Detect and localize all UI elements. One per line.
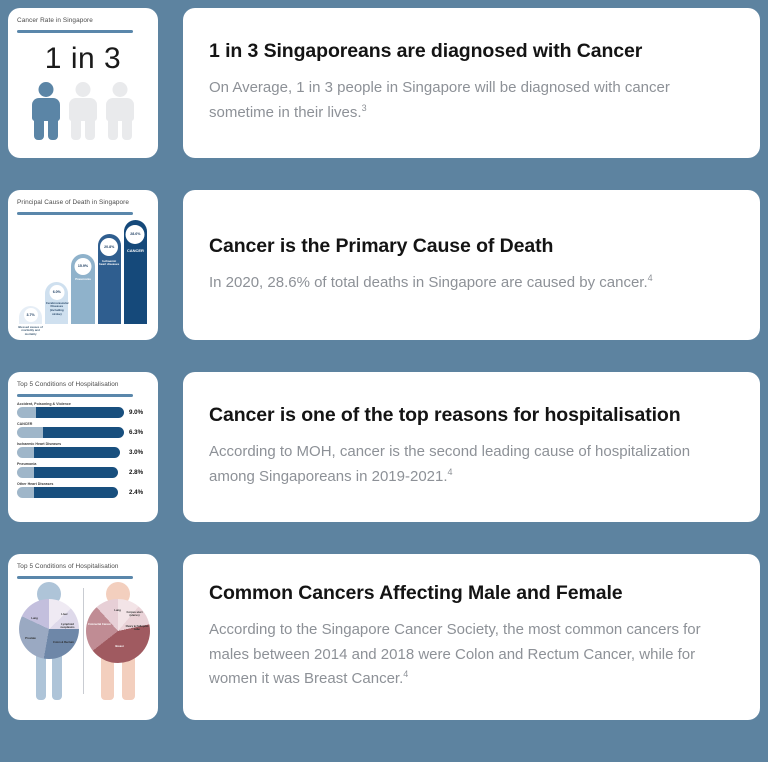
pie-chart-group: Liver Lymphoid neoplasms Colon & Rectum … [17,582,149,700]
card-body-text: In 2020, 28.6% of total deaths in Singap… [209,274,648,291]
info-row-hospitalisation: Top 5 Conditions of Hospitalisation Acci… [8,372,760,522]
column-value: 28.6% [126,225,145,244]
accent-rule [17,212,133,215]
graphic-title: Principal Cause of Death in Singapore [17,199,149,208]
female-pie-chart: Corpus uteri (uterus) Ovary & Fallopian … [86,599,150,663]
bar-value: 6.3% [129,429,149,436]
horizontal-bar-chart: Accident, Poisoning & Violence 9.0% CANC… [17,402,149,499]
bar-value: 2.8% [129,469,149,476]
accent-rule [17,30,133,33]
stat-value: 1 in 3 [17,42,149,76]
pie-slice-label: Ovary & Fallopian tube [126,625,149,631]
bar-row: CANCER 6.3% [17,422,149,439]
column-label: CANCER [125,248,147,253]
graphic-title: Top 5 Conditions of Hospitalisation [17,563,149,572]
graphic-card-hospitalisation: Top 5 Conditions of Hospitalisation Acci… [8,372,158,522]
column-label: Pneumonia [72,278,94,282]
info-row-cancer-rate: Cancer Rate in Singapore 1 in 3 1 in 3 S… [8,8,760,158]
text-card-hospitalisation: Cancer is one of the top reasons for hos… [183,372,760,522]
column-value: 15.9% [75,258,92,275]
card-body: According to MOH, cancer is the second l… [209,440,719,490]
bar-label: Accident, Poisoning & Violence [17,402,149,406]
card-heading: 1 in 3 Singaporeans are diagnosed with C… [209,40,734,63]
male-figure: Liver Lymphoid neoplasms Colon & Rectum … [17,582,80,700]
graphic-card-common-cancers: Top 5 Conditions of Hospitalisation Live… [8,554,158,720]
card-body: On Average, 1 in 3 people in Singapore w… [209,76,719,126]
footnote-marker: 4 [403,669,408,679]
pie-slice-label: Colorectal Cancer [88,623,112,626]
info-row-cause-of-death: Principal Cause of Death in Singapore 3.… [8,190,760,340]
column-value: 3.7% [24,308,38,322]
person-icon [30,82,62,140]
infographic-page: Cancer Rate in Singapore 1 in 3 1 in 3 S… [0,0,768,762]
pie-slice-label: Breast [110,645,130,648]
person-icon [104,82,136,140]
footnote-marker: 4 [648,273,653,283]
card-body-text: According to MOH, cancer is the second l… [209,443,690,485]
pie-slice-label: Colon & Rectum [51,641,77,644]
card-body-text: According to the Singapore Cancer Societ… [209,621,701,688]
graphic-card-cancer-rate: Cancer Rate in Singapore 1 in 3 [8,8,158,158]
card-body: According to the Singapore Cancer Societ… [209,618,719,692]
card-heading: Common Cancers Affecting Male and Female [209,582,734,605]
person-icon [67,82,99,140]
column-bar: 6.0% Cerebrovascular Diseases (including… [45,282,68,324]
graphic-title: Top 5 Conditions of Hospitalisation [17,381,149,390]
graphic-title: Cancer Rate in Singapore [17,17,149,26]
column-bar: 15.9% Pneumonia [71,254,94,324]
bar-value: 2.4% [129,489,149,496]
column-value: 20.8% [100,238,118,256]
column-bar: 28.6% CANCER [124,220,147,324]
info-row-common-cancers: Top 5 Conditions of Hospitalisation Live… [8,554,760,720]
accent-rule [17,394,133,397]
column-bar: 3.7% Blessed causes of morbidity and mor… [19,306,42,324]
bar-label: CANCER [17,422,149,426]
graphic-card-cause-of-death: Principal Cause of Death in Singapore 3.… [8,190,158,340]
bar-label: Ischaemic Heart Diseases [17,442,149,446]
column-value: 6.0% [49,285,64,300]
bar-label: Pneumonia [17,462,149,466]
bar-label: Other Heart Diseases [17,482,149,486]
column-label: Ischaemic heart diseases [98,260,120,268]
pie-slice-label: Prostate [21,637,41,640]
pie-slice-label: Lung [25,617,45,620]
people-pictogram [17,82,149,140]
legs-icon [36,652,62,700]
text-card-cancer-rate: 1 in 3 Singaporeans are diagnosed with C… [183,8,760,158]
female-figure: Corpus uteri (uterus) Ovary & Fallopian … [86,582,149,700]
bar-row: Ischaemic Heart Diseases 3.0% [17,442,149,459]
text-card-cause-of-death: Cancer is the Primary Cause of Death In … [183,190,760,340]
text-card-common-cancers: Common Cancers Affecting Male and Female… [183,554,760,720]
vertical-divider [83,588,84,694]
footnote-marker: 4 [448,467,453,477]
bar-row: Other Heart Diseases 2.4% [17,482,149,499]
male-pie-chart: Liver Lymphoid neoplasms Colon & Rectum … [19,599,79,659]
footnote-marker: 3 [362,103,367,113]
card-body: In 2020, 28.6% of total deaths in Singap… [209,271,719,296]
bar-value: 9.0% [129,409,149,416]
pie-slice-label: Lung [108,609,128,612]
accent-rule [17,576,133,579]
column-chart: 3.7% Blessed causes of morbidity and mor… [17,220,149,324]
column-bar: 20.8% Ischaemic heart diseases [98,234,121,324]
card-heading: Cancer is the Primary Cause of Death [209,235,734,258]
pie-slice-label: Lymphoid neoplasms [57,623,79,629]
bar-value: 3.0% [129,449,149,456]
pie-slice-label: Liver [55,613,75,616]
column-label: Cerebrovascular Diseases (including stro… [46,302,68,317]
bar-row: Accident, Poisoning & Violence 9.0% [17,402,149,419]
bar-row: Pneumonia 2.8% [17,462,149,479]
card-heading: Cancer is one of the top reasons for hos… [209,404,734,427]
column-label: Blessed causes of morbidity and mortalit… [17,326,45,337]
card-body-text: On Average, 1 in 3 people in Singapore w… [209,79,670,121]
